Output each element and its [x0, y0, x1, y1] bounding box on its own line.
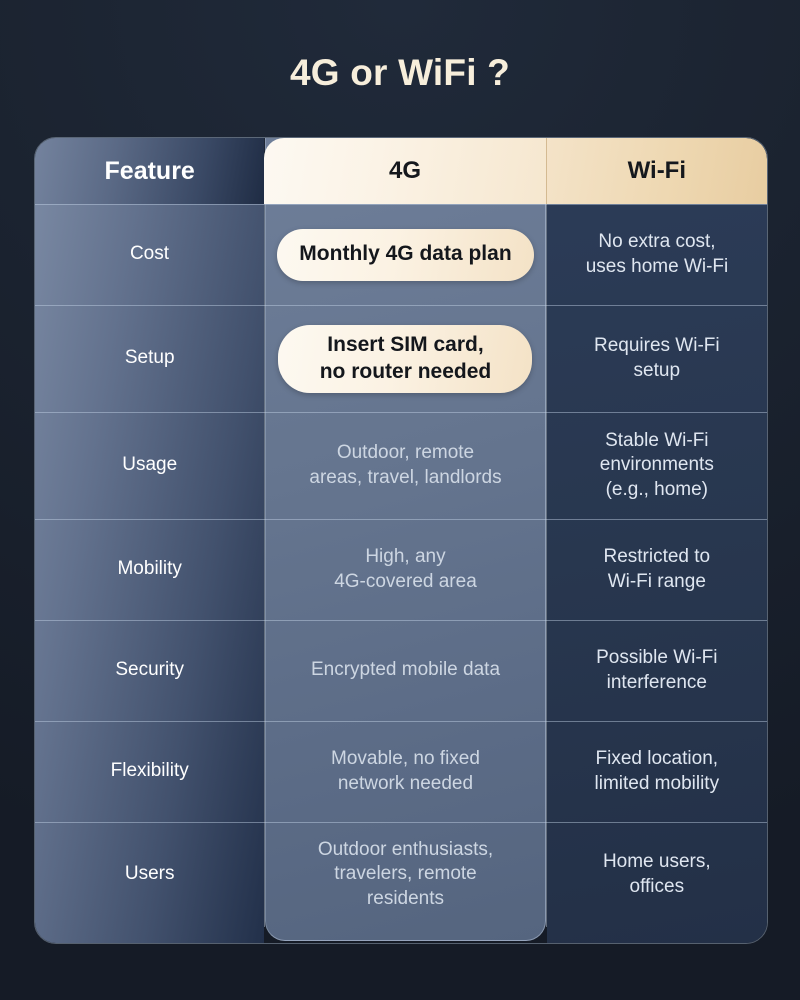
- table-row: Users Outdoor enthusiasts, travelers, re…: [35, 822, 767, 927]
- cell-wifi: Fixed location, limited mobility: [546, 721, 767, 822]
- cell-wifi: Stable Wi-Fi environments (e.g., home): [546, 412, 767, 519]
- feature-label: Users: [35, 822, 264, 927]
- cell-4g: High, any 4G-covered area: [264, 519, 545, 620]
- header-cell-4g: 4G: [264, 138, 545, 204]
- table-grid: Feature 4G Wi-Fi Cost Monthly 4G data pl…: [35, 138, 767, 943]
- page-title: 4G or WiFi ?: [0, 52, 800, 94]
- feature-label: Setup: [35, 305, 264, 412]
- cell-wifi: Restricted to Wi-Fi range: [546, 519, 767, 620]
- feature-label: Security: [35, 620, 264, 721]
- feature-label: Cost: [35, 204, 264, 305]
- header-cell-wifi: Wi-Fi: [546, 138, 767, 204]
- cell-wifi: Home users, offices: [546, 822, 767, 927]
- table-row: Setup Insert SIM card, no router needed …: [35, 305, 767, 412]
- table-row: Usage Outdoor, remote areas, travel, lan…: [35, 412, 767, 519]
- cell-4g: Movable, no fixed network needed: [264, 721, 545, 822]
- header-cell-feature: Feature: [35, 138, 264, 204]
- highlight-pill: Insert SIM card, no router needed: [278, 325, 532, 393]
- table-row: Cost Monthly 4G data plan No extra cost,…: [35, 204, 767, 305]
- cell-4g: Encrypted mobile data: [264, 620, 545, 721]
- cell-4g: Insert SIM card, no router needed: [264, 305, 545, 412]
- cell-4g: Outdoor enthusiasts, travelers, remote r…: [264, 822, 545, 927]
- table-row: Security Encrypted mobile data Possible …: [35, 620, 767, 721]
- comparison-table: Feature 4G Wi-Fi Cost Monthly 4G data pl…: [34, 137, 768, 944]
- table-row: Mobility High, any 4G-covered area Restr…: [35, 519, 767, 620]
- feature-label: Mobility: [35, 519, 264, 620]
- cell-wifi: Possible Wi-Fi interference: [546, 620, 767, 721]
- cell-4g: Outdoor, remote areas, travel, landlords: [264, 412, 545, 519]
- feature-label: Usage: [35, 412, 264, 519]
- cell-wifi: Requires Wi-Fi setup: [546, 305, 767, 412]
- table-row: Flexibility Movable, no fixed network ne…: [35, 721, 767, 822]
- cell-wifi: No extra cost, uses home Wi-Fi: [546, 204, 767, 305]
- cell-4g: Monthly 4G data plan: [264, 204, 546, 305]
- table-header-row: Feature 4G Wi-Fi: [35, 138, 767, 204]
- feature-label: Flexibility: [35, 721, 264, 822]
- highlight-pill: Monthly 4G data plan: [277, 229, 534, 281]
